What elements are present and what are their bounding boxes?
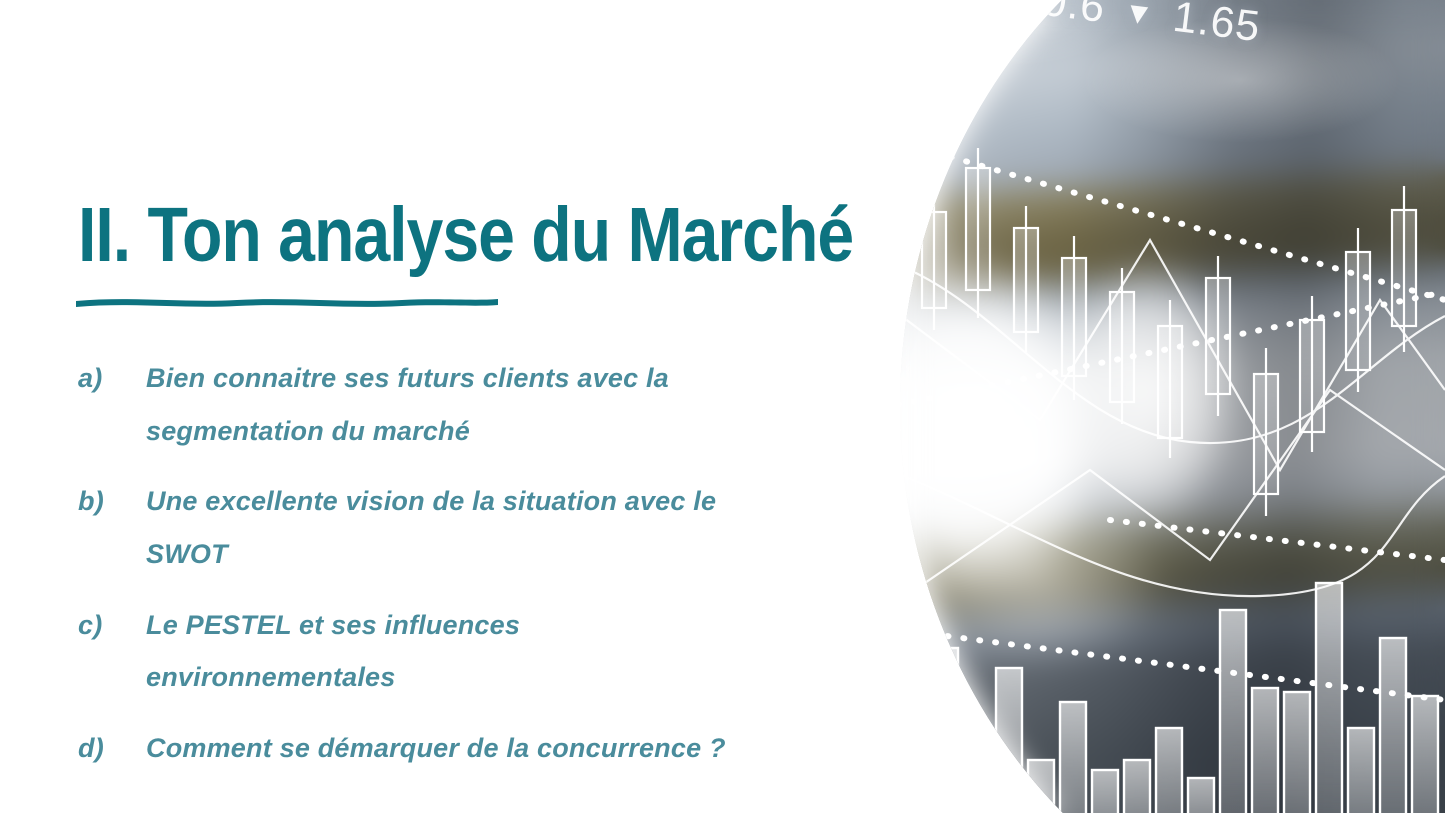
list-item: b) Une excellente vision de la situation… <box>78 475 868 580</box>
ellipse-photo-clip: 0.6 ▼ 1.65 <box>860 0 1445 813</box>
list-item-label: Le PESTEL et ses influences environnemen… <box>146 599 766 704</box>
list-item: c) Le PESTEL et ses influences environne… <box>78 599 868 704</box>
slide-canvas: 0.6 ▼ 1.65 II. Ton analyse du Marché a) … <box>0 0 1445 813</box>
list-item-marker: c) <box>78 599 146 652</box>
list-item: a) Bien connaitre ses futurs clients ave… <box>78 352 868 457</box>
title-underline-stroke <box>72 286 502 310</box>
list-item: d) Comment se démarquer de la concurrenc… <box>78 722 868 775</box>
list-item-label: Une excellente vision de la situation av… <box>146 475 766 580</box>
list-item-marker: b) <box>78 475 146 528</box>
down-triangle-icon: ▼ <box>1116 0 1162 33</box>
market-photo-panel: 0.6 ▼ 1.65 <box>860 0 1445 813</box>
list-item-marker: a) <box>78 352 146 405</box>
list-item-label: Bien connaitre ses futurs clients avec l… <box>146 352 706 457</box>
bullet-list: a) Bien connaitre ses futurs clients ave… <box>78 352 868 792</box>
page-title: II. Ton analyse du Marché <box>78 197 853 274</box>
list-item-marker: d) <box>78 722 146 775</box>
photo-left-edge-fade <box>860 0 1445 813</box>
slide-content: II. Ton analyse du Marché a) Bien connai… <box>0 0 880 813</box>
list-item-label: Comment se démarquer de la concurrence ? <box>146 722 766 775</box>
